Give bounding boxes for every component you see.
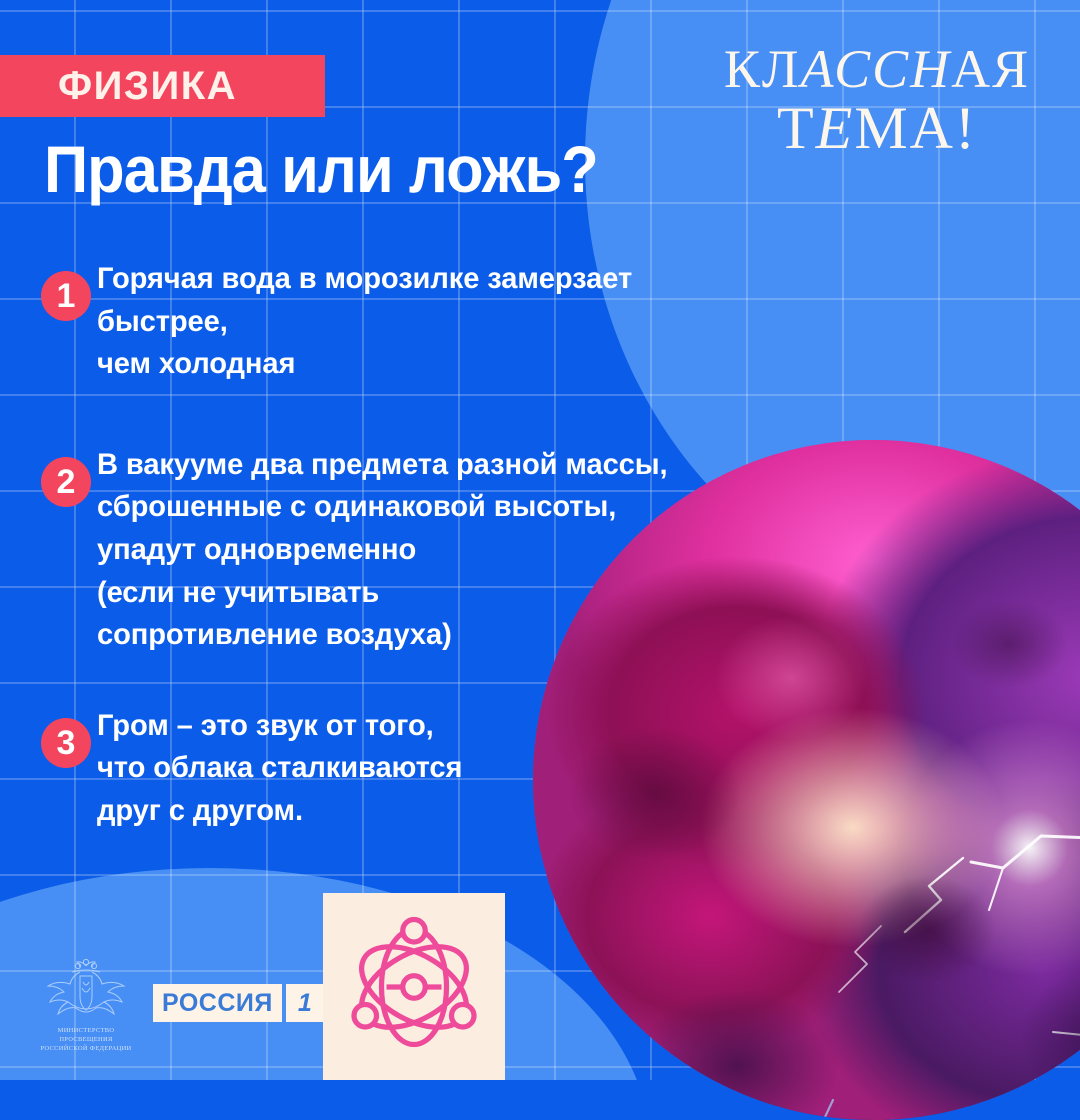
double-headed-eagle-icon	[38, 958, 134, 1024]
atom-logo-box	[323, 893, 505, 1080]
list-item: 2 В вакууме два предмета разной массы, с…	[0, 444, 760, 657]
channel-logo-word: РОССИЯ	[153, 984, 282, 1022]
brand-logo-line2: ТЕМА!	[712, 100, 1042, 158]
brand-logo-line1: КЛАССНАЯ	[712, 44, 1042, 96]
item-text: Гром – это звук от того, что облака стал…	[0, 705, 737, 833]
ministry-logo: МИНИСТЕРСТВО ПРОСВЕЩЕНИЯ РОССИЙСКОЙ ФЕДЕ…	[30, 958, 142, 1053]
item-text: Горячая вода в морозилке замерзает быстр…	[0, 258, 737, 386]
atom-icon	[339, 912, 489, 1062]
questions-list: 1 Горячая вода в морозилке замерзает быс…	[0, 258, 760, 875]
page-title: Правда или ложь?	[44, 136, 598, 202]
item-text: В вакууме два предмета разной массы, сбр…	[0, 444, 737, 657]
list-item: 3 Гром – это звук от того, что облака ст…	[0, 705, 760, 833]
subject-tag: ФИЗИКА	[0, 55, 325, 117]
content-layer: ФИЗИКА Правда или ложь? 1 Горячая вода в…	[0, 0, 1080, 1080]
brand-logo: КЛАССНАЯ ТЕМА!	[712, 44, 1042, 157]
channel-logo-number: 1	[286, 984, 324, 1022]
subject-tag-label: ФИЗИКА	[0, 64, 237, 109]
channel-logo: РОССИЯ 1	[153, 984, 324, 1022]
list-item: 1 Горячая вода в морозилке замерзает быс…	[0, 258, 760, 386]
ministry-caption: МИНИСТЕРСТВО ПРОСВЕЩЕНИЯ РОССИЙСКОЙ ФЕДЕ…	[30, 1027, 142, 1053]
